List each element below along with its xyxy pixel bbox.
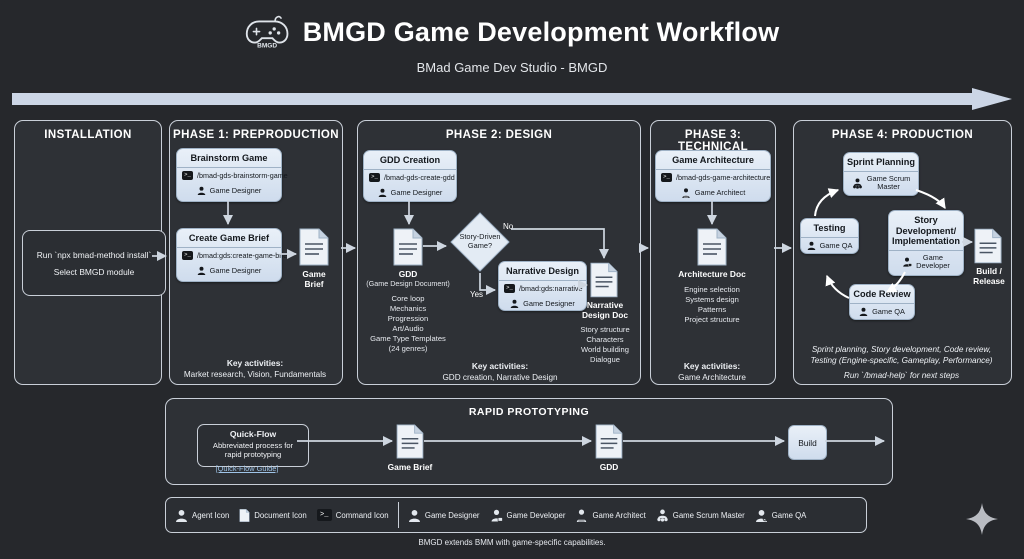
card-command: /bmad-gds-create-gdd — [384, 173, 455, 182]
doc-label-architecture: Architecture Doc — [660, 269, 764, 279]
legend-item-game-developer: Game Developer — [490, 509, 566, 522]
card-title: Story Development/ Implementation — [889, 211, 963, 251]
card-command-row: >_ /bmad-gds-create-gdd — [364, 170, 456, 185]
key-activities-text: Game Architecture — [678, 373, 746, 382]
card-gdd-creation[interactable]: GDD Creation >_ /bmad-gds-create-gdd Gam… — [363, 150, 457, 202]
quick-flow-body: Abbreviated process for rapid prototypin… — [203, 441, 303, 460]
card-command: /bmad-gds-game-architecture — [676, 173, 770, 182]
doc-label-line1: Build / — [962, 266, 1016, 276]
footnote: BMGD extends BMM with game-specific capa… — [0, 538, 1024, 547]
game-architect-icon — [681, 188, 691, 198]
card-agent: Game QA — [820, 241, 853, 250]
legend: Agent Icon Document Icon >_ Command Icon… — [165, 497, 867, 533]
card-agent: Game Scrum Master — [867, 175, 911, 192]
doc-sublabel-gdd: (Game Design Document) — [358, 279, 458, 289]
agent-icon — [175, 509, 188, 522]
card-agent: Game QA — [872, 307, 905, 316]
logo-label: BMGD — [257, 42, 277, 49]
card-command-row: >_ /bmad-gds-brainstorm-game — [177, 168, 281, 183]
card-agent-row: Game QA — [850, 304, 914, 319]
page-subtitle: BMad Game Dev Studio - BMGD — [0, 60, 1024, 75]
card-agent-row: Game Scrum Master — [844, 172, 918, 195]
doc-label-line1: Game — [294, 269, 334, 279]
quick-flow-box: Quick-Flow Abbreviated process for rapid… — [197, 424, 309, 467]
key-activities-text: Market research, Vision, Fundamentals — [184, 370, 326, 379]
command-icon: >_ — [661, 173, 672, 182]
gdd-details: Core loop Mechanics Progression Art/Audi… — [358, 294, 458, 355]
card-story-development[interactable]: Story Development/ Implementation Game D… — [888, 210, 964, 276]
card-title: Sprint Planning — [844, 153, 918, 172]
card-agent-row: Game Developer — [889, 251, 963, 274]
card-narrative-design[interactable]: Narrative Design >_ /bmad:gds:narrative … — [498, 261, 587, 311]
command-icon: >_ — [317, 509, 332, 521]
legend-label: Game Scrum Master — [673, 511, 745, 520]
card-command-row: >_ /bmad-gds-game-architecture — [656, 170, 770, 185]
legend-group-roles: Game Designer Game Developer Game Archit… — [399, 498, 815, 532]
edge-label-no: No — [503, 222, 513, 231]
game-qa-icon — [807, 241, 816, 250]
card-game-architecture[interactable]: Game Architecture >_ /bmad-gds-game-arch… — [655, 150, 771, 202]
legend-label: Game QA — [772, 511, 807, 520]
card-agent: Game Designer — [391, 188, 443, 197]
agent-icon — [197, 186, 206, 195]
card-sprint-planning[interactable]: Sprint Planning Game Scrum Master — [843, 152, 919, 196]
game-qa-icon — [755, 509, 768, 522]
game-scrum-master-icon — [852, 178, 863, 189]
card-command: /bmad:gds:create-game-brief — [197, 251, 289, 260]
doc-label-line2: Release — [962, 276, 1016, 286]
rapid-build-node[interactable]: Build — [788, 425, 827, 460]
card-command-row: >_ /bmad:gds:narrative — [499, 281, 586, 296]
card-command-row: >_ /bmad:gds:create-game-brief — [177, 248, 281, 263]
panel-title-phase4: PHASE 4: PRODUCTION — [794, 129, 1011, 141]
edge-label-yes: Yes — [470, 290, 483, 299]
card-agent-row: Game Designer — [177, 263, 281, 278]
phase4-footer-line2: Testing (Engine-specific, Gameplay, Perf… — [798, 355, 1005, 366]
key-activities-phase3: Key activities: Game Architecture — [654, 361, 770, 383]
phase4-footer: Sprint planning, Story development, Code… — [798, 344, 1005, 381]
card-agent-row: Game Designer — [177, 183, 281, 198]
installation-command-box: Run `npx bmad-method install` Select BMG… — [22, 230, 166, 296]
narrative-details: Story structure Characters World buildin… — [568, 325, 642, 365]
card-agent-row: Game Designer — [364, 185, 456, 200]
card-agent: Game Designer — [523, 299, 575, 308]
legend-item-game-scrum-master: Game Scrum Master — [656, 509, 745, 522]
quick-flow-title: Quick-Flow — [203, 429, 303, 439]
document-icon-rapid-game-brief — [396, 424, 424, 459]
legend-item-game-qa: Game QA — [755, 509, 807, 522]
rapid-step-label-2: GDD — [579, 462, 639, 472]
panel-title-phase1: PHASE 1: PREPRODUCTION — [170, 129, 342, 141]
game-developer-icon — [490, 509, 503, 522]
legend-label: Game Developer — [507, 511, 566, 520]
doc-label-gdd: GDD — [368, 269, 448, 279]
rapid-step-label-1: Game Brief — [375, 462, 445, 472]
card-agent-row: Game QA — [801, 238, 858, 253]
card-command: /bmad:gds:narrative — [519, 284, 583, 293]
doc-label-build-release: Build / Release — [962, 266, 1016, 286]
document-icon-architecture — [697, 228, 727, 266]
game-architect-icon — [575, 509, 588, 522]
card-agent: Game Developer — [916, 254, 950, 271]
legend-item-game-designer: Game Designer — [408, 509, 480, 522]
card-title: GDD Creation — [364, 151, 456, 170]
document-icon-gdd — [393, 228, 423, 266]
game-designer-icon — [408, 509, 421, 522]
card-code-review[interactable]: Code Review Game QA — [849, 284, 915, 320]
card-title: Code Review — [850, 285, 914, 304]
legend-label: Game Designer — [425, 511, 480, 520]
legend-label: Command Icon — [336, 511, 389, 520]
architecture-details: Engine selection Systems design Patterns… — [660, 285, 764, 325]
doc-label-narrative: Narrative Design Doc — [575, 300, 635, 320]
page-title: BMGD Game Development Workflow — [303, 17, 780, 48]
install-line-1: Run `npx bmad-method install` — [37, 250, 152, 260]
key-activities-phase1: Key activities: Market research, Vision,… — [172, 358, 338, 380]
document-icon-rapid-gdd — [595, 424, 623, 459]
key-activities-text: GDD creation, Narrative Design — [442, 373, 557, 382]
legend-group-icons: Agent Icon Document Icon >_ Command Icon — [166, 498, 398, 532]
key-activities-label: Key activities: — [654, 361, 770, 372]
phase4-footer-line1: Sprint planning, Story development, Code… — [798, 344, 1005, 355]
card-title: Create Game Brief — [177, 229, 281, 248]
card-create-game-brief[interactable]: Create Game Brief >_ /bmad:gds:create-ga… — [176, 228, 282, 282]
legend-label: Document Icon — [254, 511, 306, 520]
agent-icon — [510, 299, 519, 308]
command-icon: >_ — [182, 251, 193, 260]
gamepad-icon: BMGD — [245, 11, 291, 53]
legend-label: Game Architect — [592, 511, 645, 520]
agent-icon — [197, 266, 206, 275]
legend-label: Agent Icon — [192, 511, 229, 520]
install-line-2: Select BMGD module — [54, 267, 135, 277]
key-activities-label: Key activities: — [172, 358, 338, 369]
key-activities-phase2: Key activities: GDD creation, Narrative … — [400, 361, 600, 383]
document-icon-game-brief — [299, 228, 329, 266]
card-title: Narrative Design — [499, 262, 586, 281]
card-title: Game Architecture — [656, 151, 770, 170]
legend-item-document: Document Icon — [239, 509, 306, 522]
game-developer-icon — [902, 257, 912, 267]
panel-title-rapid: RAPID PROTOTYPING — [166, 406, 892, 418]
header: BMGD BMGD Game Development Workflow BMad… — [0, 0, 1024, 84]
phase4-footer-line3: Run `/bmad-help` for next steps — [798, 370, 1005, 381]
agent-icon — [378, 188, 387, 197]
legend-item-game-architect: Game Architect — [575, 509, 645, 522]
doc-label-line2: Brief — [294, 279, 334, 289]
card-title: Testing — [801, 219, 858, 238]
legend-item-agent: Agent Icon — [175, 509, 229, 522]
doc-label-game-brief: Game Brief — [294, 269, 334, 289]
command-icon: >_ — [182, 171, 193, 180]
card-testing[interactable]: Testing Game QA — [800, 218, 859, 254]
card-agent-row: Game Architect — [656, 185, 770, 201]
card-command: /bmad-gds-brainstorm-game — [197, 171, 288, 180]
diagram-canvas: BMGD BMGD Game Development Workflow BMad… — [0, 0, 1024, 559]
document-icon — [239, 509, 250, 522]
document-icon-narrative — [590, 262, 618, 298]
command-icon: >_ — [504, 284, 515, 293]
panel-title-installation: INSTALLATION — [15, 129, 161, 141]
quick-flow-guide-link[interactable]: [Quick-Flow Guide] — [197, 464, 297, 473]
card-agent: Game Architect — [695, 188, 746, 197]
key-activities-label: Key activities: — [400, 361, 600, 372]
legend-item-command: >_ Command Icon — [317, 509, 389, 521]
card-agent: Game Designer — [210, 266, 262, 275]
card-agent-row: Game Designer — [499, 296, 586, 311]
card-agent: Game Designer — [210, 186, 262, 195]
sparkle-icon — [963, 500, 1001, 538]
card-brainstorm-game[interactable]: Brainstorm Game >_ /bmad-gds-brainstorm-… — [176, 148, 282, 202]
card-title: Brainstorm Game — [177, 149, 281, 168]
document-icon-build-release — [974, 228, 1002, 264]
game-scrum-master-icon — [656, 509, 669, 522]
game-qa-icon — [859, 307, 868, 316]
progress-arrow-icon — [12, 88, 1012, 110]
command-icon: >_ — [369, 173, 380, 182]
panel-title-phase2: PHASE 2: DESIGN — [358, 129, 640, 141]
